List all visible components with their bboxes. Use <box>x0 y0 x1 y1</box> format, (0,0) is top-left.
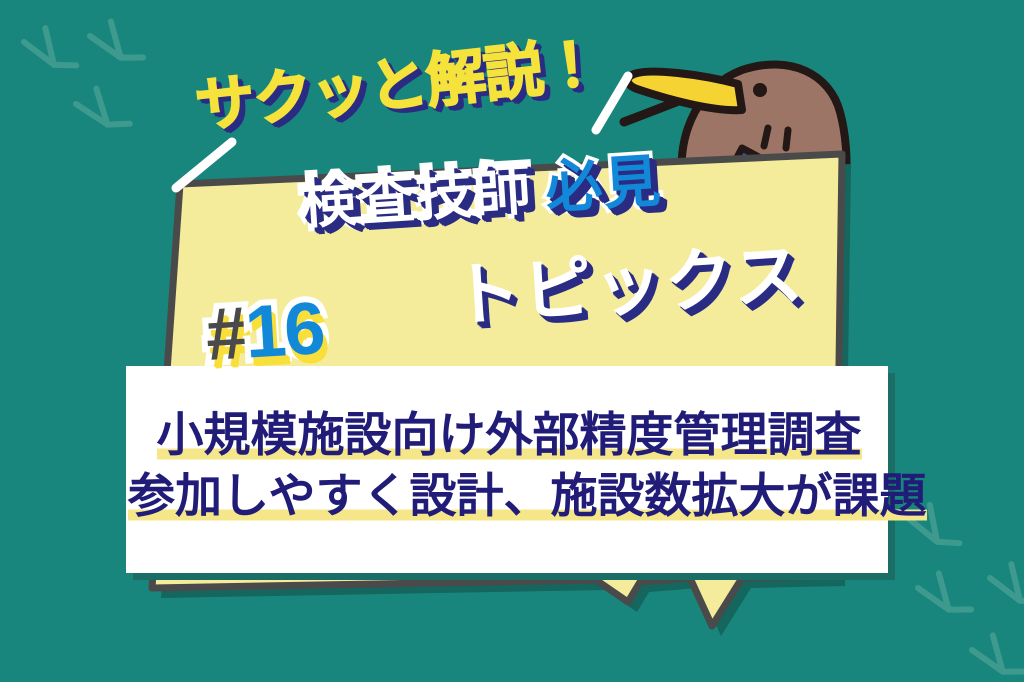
poster-canvas: PRESS サクッと解説！ 検査技師必見 トピックス #16 小規模施設向け外部… <box>0 0 1024 682</box>
headline-line-1: 小規模施設向け外部精度管理調査 <box>157 408 862 461</box>
issue-hash-symbol: # <box>204 291 248 376</box>
headline-row: 参加しやすく設計、施設数拡大が課題 <box>128 465 890 526</box>
issue-number: 16 <box>243 286 326 373</box>
issue-number-badge: #16 <box>204 291 326 372</box>
headline-line-2: 参加しやすく設計、施設数拡大が課題 <box>128 469 927 522</box>
title-line-2-blue: 必見 <box>543 149 663 220</box>
headline-row: 小規模施設向け外部精度管理調査 <box>128 404 890 465</box>
headline-block: 小規模施設向け外部精度管理調査 参加しやすく設計、施設数拡大が課題 <box>128 404 890 526</box>
